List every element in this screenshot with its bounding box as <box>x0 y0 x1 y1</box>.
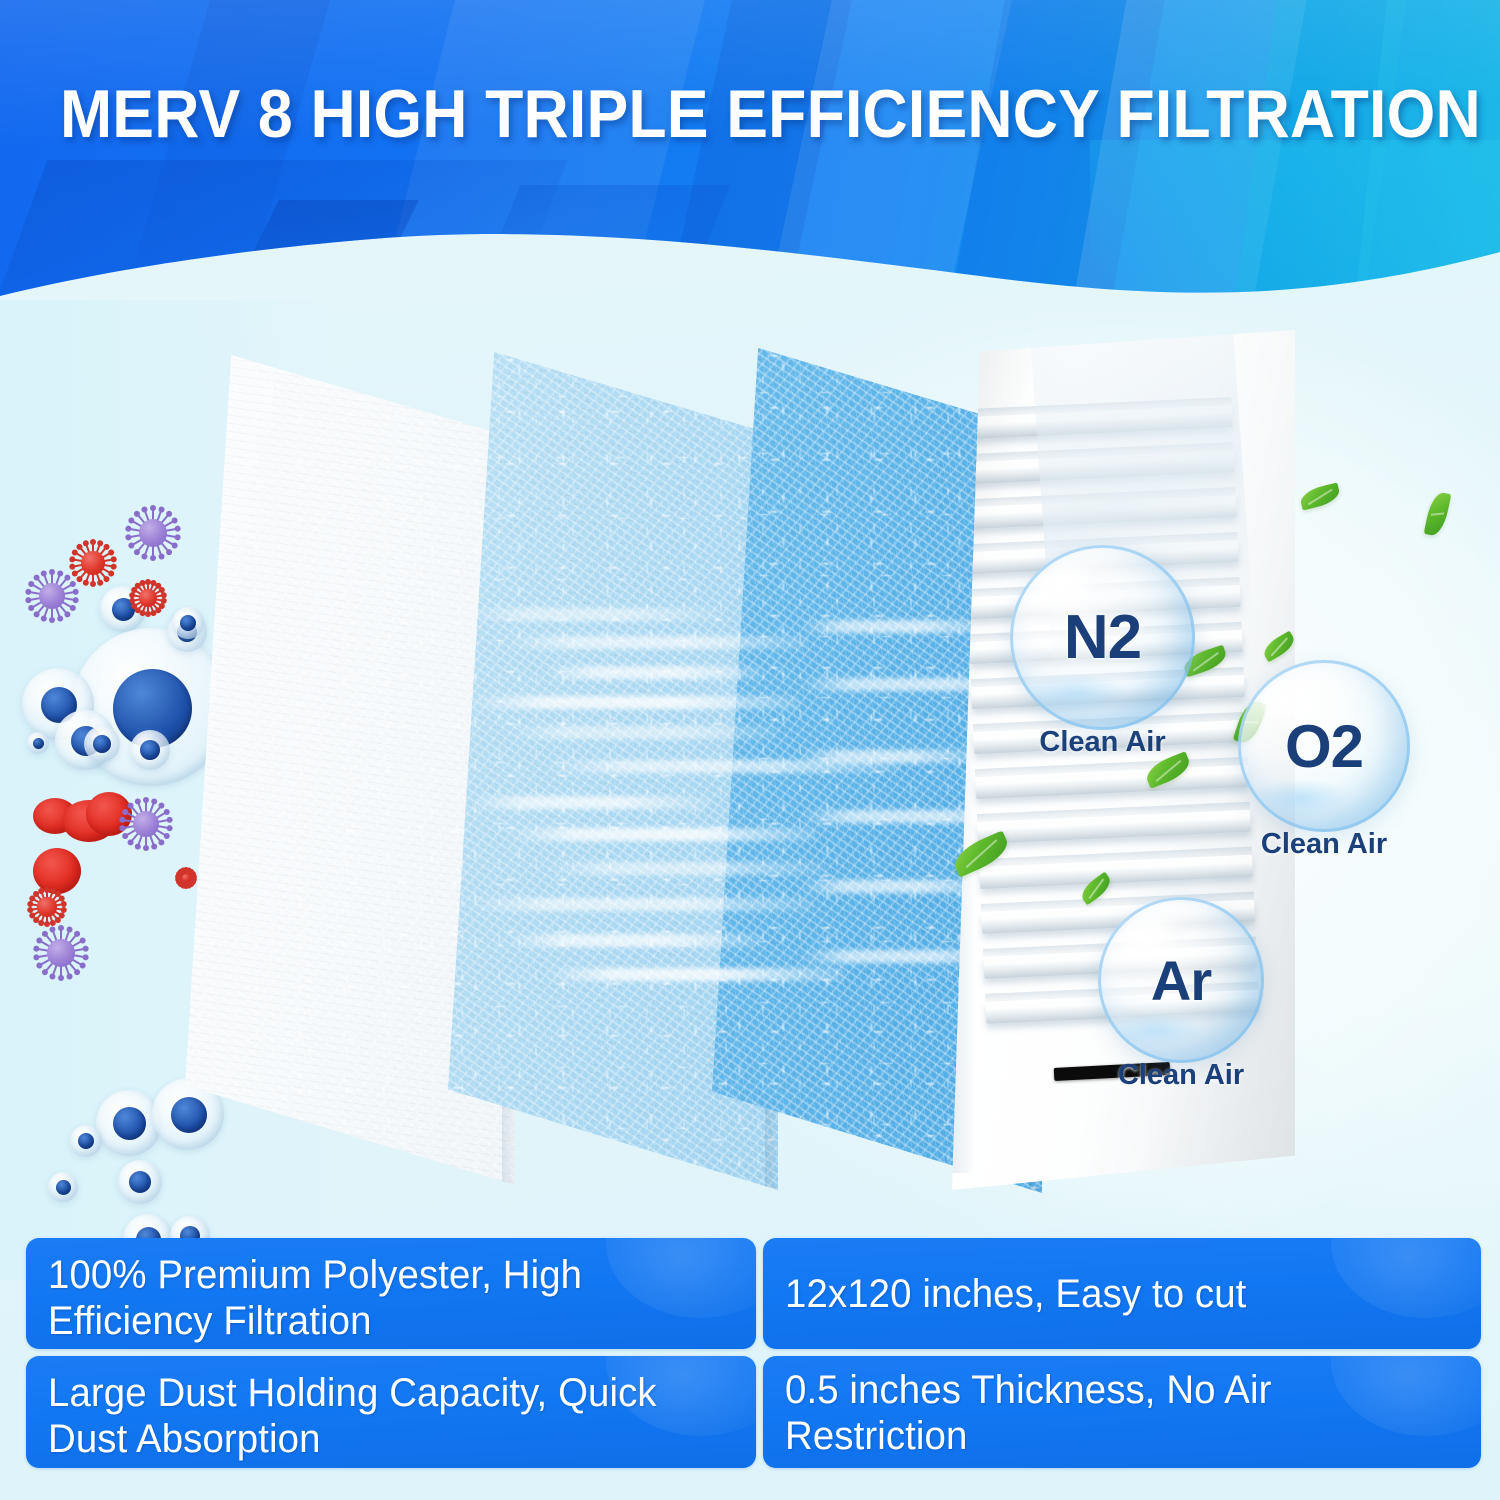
virus-red-icon <box>132 582 164 614</box>
microbe-cell-icon <box>84 726 120 762</box>
bubble-caption: Clean Air <box>1238 828 1410 861</box>
infographic-canvas: MERV 8 HIGH TRIPLE EFFICIENCY FILTRATION <box>0 0 1500 1500</box>
virus-purple-icon <box>36 928 86 978</box>
microbe-cell-icon <box>70 1125 102 1157</box>
microbe-cell-icon <box>48 1172 78 1202</box>
bubble-caption: Clean Air <box>1010 726 1195 759</box>
virus-core <box>37 897 56 916</box>
gas-bubble-ar: Ar Clean Air <box>1098 897 1264 1092</box>
virus-purple-icon <box>122 800 170 848</box>
virus-red-icon <box>30 890 64 924</box>
virus-purple-icon <box>28 572 76 620</box>
box-gloss <box>1331 1238 1481 1318</box>
virus-core <box>139 589 157 607</box>
bubble-sphere: N2 <box>1010 545 1195 730</box>
virus-purple-icon <box>128 508 178 558</box>
feature-box: 12x120 inches, Easy to cut <box>763 1238 1481 1349</box>
bubble-symbol: Ar <box>1151 948 1211 1013</box>
feature-box: Large Dust Holding Capacity, Quick Dust … <box>26 1356 756 1468</box>
feature-box: 100% Premium Polyester, High Efficiency … <box>26 1238 756 1349</box>
microbe-cell-icon <box>118 1160 162 1204</box>
virus-red-icon <box>178 870 194 886</box>
feature-text: Large Dust Holding Capacity, Quick Dust … <box>48 1371 707 1462</box>
feature-text: 100% Premium Polyester, High Efficiency … <box>48 1253 707 1344</box>
bubble-symbol: O2 <box>1285 712 1363 781</box>
microbe-cell-icon <box>172 607 204 639</box>
bubble-symbol: N2 <box>1064 602 1141 673</box>
gas-bubble-n2: N2 Clean Air <box>1010 545 1195 759</box>
gas-bubble-o2: O2 Clean Air <box>1238 660 1410 861</box>
microbe-cell-icon <box>96 1090 162 1156</box>
virus-red-icon <box>72 542 114 584</box>
page-title: MERV 8 HIGH TRIPLE EFFICIENCY FILTRATION <box>60 80 1440 148</box>
microbe-cell-icon <box>27 732 49 754</box>
virus-core <box>47 939 75 967</box>
bubble-caption: Clean Air <box>1098 1059 1264 1092</box>
feature-text: 0.5 inches Thickness, No Air Restriction <box>785 1368 1432 1459</box>
virus-core <box>139 519 167 547</box>
microbe-cell-icon <box>130 730 170 770</box>
virus-core <box>81 551 105 575</box>
feature-box-grid: 100% Premium Polyester, High Efficiency … <box>26 1238 1478 1468</box>
bubble-sphere: O2 <box>1238 660 1410 832</box>
bubble-sphere: Ar <box>1098 897 1264 1063</box>
feature-box: 0.5 inches Thickness, No Air Restriction <box>763 1356 1481 1468</box>
feature-text: 12x120 inches, Easy to cut <box>785 1272 1246 1318</box>
